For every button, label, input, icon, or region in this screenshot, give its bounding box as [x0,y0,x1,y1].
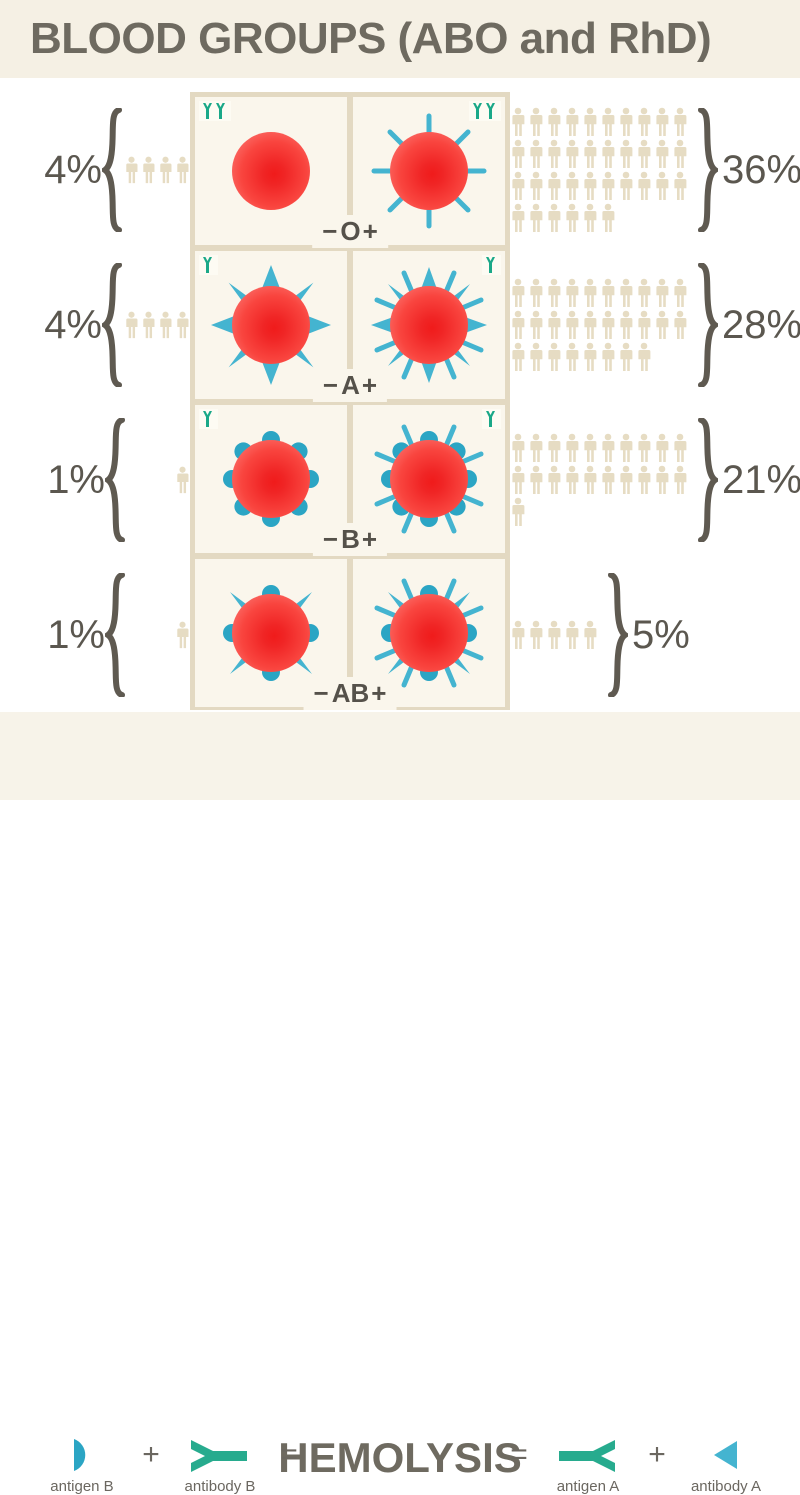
person-icon [582,310,598,340]
person-icon [546,433,562,463]
person-icon [672,139,688,169]
rbc-body [390,440,468,518]
person-icon [546,465,562,495]
person-icon [510,107,526,137]
rbc-body [390,594,468,672]
person-icon [654,139,670,169]
abo-letter: A [341,370,360,400]
person-icon [672,278,688,308]
person-icon [636,465,652,495]
antibody-b-y-icon [189,1434,251,1476]
person-icon [510,171,526,201]
stat-block-B-negative: 1% [0,402,190,557]
abo-letter: AB [332,678,370,708]
person-icon [564,203,580,233]
percent-AB-negative: 1% [47,615,105,655]
person-icon [546,310,562,340]
percent-B-negative: 1% [47,460,105,500]
antibody-Y-icon [199,255,218,275]
people-pictogram-AB-positive [510,620,598,650]
people-row [510,620,598,650]
person-icon [546,342,562,372]
person-icon [654,465,670,495]
person-icon [528,342,544,372]
people-row [510,497,688,527]
rbc-body [232,440,310,518]
antibody-YY-icon [199,101,231,121]
person-icon [582,465,598,495]
infographic-page: BLOOD GROUPS (ABO and RhD) [0,0,800,800]
person-icon [600,433,616,463]
stat-block-O-positive: 36% [510,92,800,247]
person-icon [528,139,544,169]
legend-item-antigen-b: antigen B [30,1434,134,1495]
person-icon [564,107,580,137]
red-blood-cell-B-positive [369,419,489,539]
person-icon [546,107,562,137]
person-icon [564,171,580,201]
person-icon [510,342,526,372]
rh-negative-sign: − [314,678,329,708]
person-icon [618,107,634,137]
rbc-body [390,132,468,210]
legend-label: antigen A [557,1478,620,1495]
antibody-Y-icon [482,409,501,429]
person-icon [141,156,156,184]
person-icon [618,139,634,169]
legend-item-antigen-a: antigen A [536,1434,640,1495]
person-icon [510,278,526,308]
percent-AB-positive: 5% [632,615,690,655]
people-row [124,311,190,339]
people-pictogram-AB-negative [175,621,190,649]
person-icon [582,107,598,137]
person-icon [618,171,634,201]
antibody-Y-icon [482,255,501,275]
person-icon [672,171,688,201]
person-icon [618,342,634,372]
people-row [510,171,688,201]
person-icon [636,433,652,463]
person-icon [564,465,580,495]
person-icon [600,342,616,372]
person-icon [654,310,670,340]
person-icon [654,278,670,308]
person-icon [528,310,544,340]
rbc-body [390,286,468,364]
rbc-body [232,286,310,364]
person-icon [175,466,190,494]
blood-group-label-A: −A+ [313,369,387,402]
person-icon [564,342,580,372]
stat-block-AB-negative: 1% [0,557,190,712]
person-icon [528,171,544,201]
red-blood-cell-A-positive [369,265,489,385]
rh-negative-sign: − [323,370,338,400]
people-row [510,107,688,137]
person-icon [672,465,688,495]
stat-block-O-negative: 4% [0,92,190,247]
person-icon [582,139,598,169]
percent-A-positive: 28% [722,305,800,345]
people-row [175,466,190,494]
legend-operator-plus: + [134,1434,168,1476]
percent-O-positive: 36% [722,150,800,190]
rh-positive-sign: + [362,370,377,400]
person-icon [175,621,190,649]
person-icon [636,171,652,201]
person-icon [618,278,634,308]
person-icon [528,278,544,308]
rbc-body [232,132,310,210]
person-icon [528,203,544,233]
person-icon [564,310,580,340]
legend-operator-equals: = [502,1434,536,1476]
person-icon [600,203,616,233]
person-icon [636,278,652,308]
red-blood-cell-O-positive [369,111,489,231]
person-icon [546,620,562,650]
percent-B-positive: 21% [722,460,800,500]
rh-positive-sign: + [371,678,386,708]
person-icon [175,156,190,184]
antibody-Y-icon [199,409,218,429]
blood-row-A: −A+ [195,251,505,399]
person-icon [600,278,616,308]
people-pictogram-A-positive [510,278,688,372]
person-icon [158,311,173,339]
footer-bar: HEMOLYSIS antigen B + antibody B [0,712,800,800]
legend-item-antibody-a: antibody A [674,1434,778,1495]
person-icon [564,433,580,463]
person-icon [672,433,688,463]
person-icon [510,465,526,495]
brace-left [102,263,124,387]
legend-left: antigen B + antibody B = [30,1434,306,1495]
person-icon [618,465,634,495]
people-pictogram-O-positive [510,107,688,233]
person-icon [582,342,598,372]
brace-right [696,418,718,542]
person-icon [600,465,616,495]
person-icon [546,139,562,169]
legend-label: antigen B [50,1478,113,1495]
legend-item-antibody-b: antibody B [168,1434,272,1495]
header-bar: BLOOD GROUPS (ABO and RhD) [0,0,800,78]
person-icon [124,156,139,184]
person-icon [582,433,598,463]
people-row [124,156,190,184]
rh-positive-sign: + [362,524,377,554]
person-icon [158,156,173,184]
red-blood-cell-A-negative [211,265,331,385]
legend-operator-equals: = [272,1434,306,1476]
person-icon [672,310,688,340]
legend-label: antibody B [185,1478,256,1495]
person-icon [564,620,580,650]
blood-group-label-AB: −AB+ [304,677,397,710]
people-row [510,203,688,233]
blood-type-grid: −O+ [190,92,510,710]
person-icon [528,620,544,650]
blood-group-label-O: −O+ [312,215,388,248]
red-blood-cell-B-negative [211,419,331,539]
person-icon [600,310,616,340]
brace-right [696,263,718,387]
legend-operator-plus: + [640,1434,674,1476]
people-row [510,342,688,372]
red-blood-cell-O-negative [211,111,331,231]
people-row [510,139,688,169]
person-icon [546,278,562,308]
person-icon [564,139,580,169]
people-row [510,433,688,463]
rh-negative-sign: − [322,216,337,246]
legend-label: antibody A [691,1478,761,1495]
person-icon [636,342,652,372]
person-icon [510,203,526,233]
antibody-a-triangle-icon [711,1434,741,1476]
rh-positive-sign: + [363,216,378,246]
person-icon [636,310,652,340]
person-icon [528,465,544,495]
person-icon [654,107,670,137]
person-icon [618,310,634,340]
blood-row-B: −B+ [195,405,505,553]
brace-right [696,108,718,232]
stat-block-A-negative: 4% [0,247,190,402]
abo-letter: B [341,524,360,554]
person-icon [546,171,562,201]
person-icon [582,203,598,233]
red-blood-cell-AB-negative [211,573,331,693]
page-title: BLOOD GROUPS (ABO and RhD) [30,14,711,64]
people-pictogram-B-negative [175,466,190,494]
brace-left [102,108,124,232]
rh-negative-sign: − [323,524,338,554]
antigen-a-y-icon [557,1434,619,1476]
stat-block-B-positive: 21% [510,402,800,557]
hemolysis-title: HEMOLYSIS [278,1434,522,1482]
person-icon [654,433,670,463]
antigen-b-halfcircle-icon [69,1434,95,1476]
person-icon [582,620,598,650]
rbc-body [232,594,310,672]
blood-group-label-B: −B+ [313,523,387,556]
person-icon [510,310,526,340]
people-row [510,310,688,340]
stat-block-AB-positive: 5% [510,557,800,712]
person-icon [528,107,544,137]
person-icon [510,497,526,527]
person-icon [672,107,688,137]
people-pictogram-O-negative [124,156,190,184]
legend-right: = antigen A + antibody A [502,1434,778,1495]
person-icon [654,171,670,201]
person-icon [510,620,526,650]
percent-A-negative: 4% [44,305,102,345]
brace-left [105,573,127,697]
blood-row-AB: −AB+ [195,559,505,707]
abo-letter: O [340,216,360,246]
person-icon [600,171,616,201]
blood-row-O: −O+ [195,97,505,245]
stat-block-A-positive: 28% [510,247,800,402]
percent-O-negative: 4% [44,150,102,190]
person-icon [546,203,562,233]
person-icon [124,311,139,339]
person-icon [582,171,598,201]
brace-left [105,418,127,542]
people-row [510,278,688,308]
people-row [510,465,688,495]
people-pictogram-A-negative [124,311,190,339]
person-icon [564,278,580,308]
people-pictogram-B-positive [510,433,688,527]
person-icon [175,311,190,339]
red-blood-cell-AB-positive [369,573,489,693]
person-icon [510,433,526,463]
person-icon [528,433,544,463]
antibody-YY-icon [469,101,501,121]
person-icon [636,107,652,137]
brace-right [606,573,628,697]
person-icon [600,139,616,169]
person-icon [600,107,616,137]
person-icon [582,278,598,308]
person-icon [510,139,526,169]
people-row [175,621,190,649]
person-icon [636,139,652,169]
person-icon [618,433,634,463]
person-icon [141,311,156,339]
